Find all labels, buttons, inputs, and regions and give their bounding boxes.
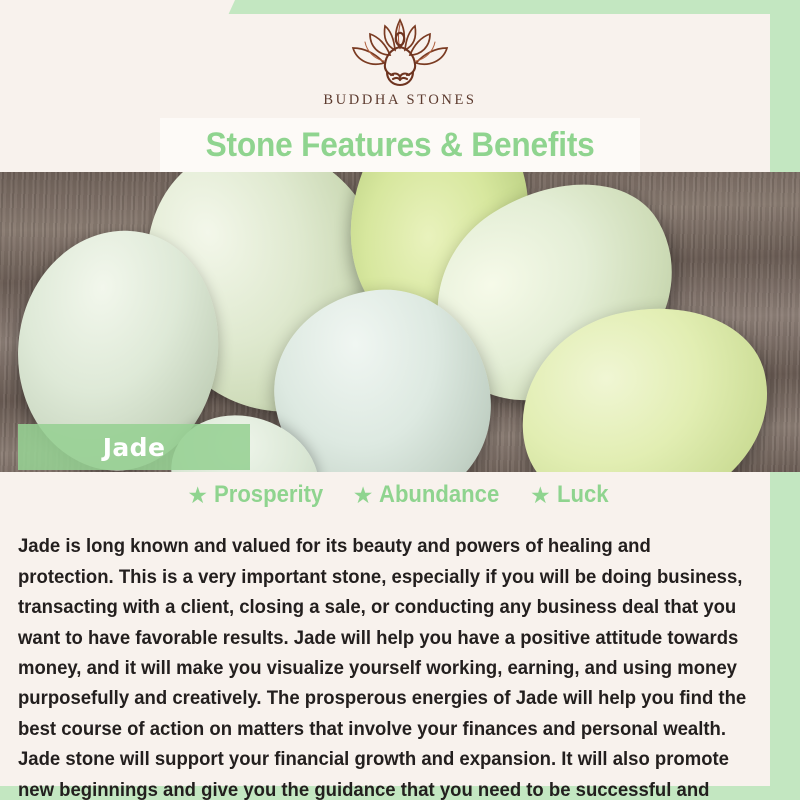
star-icon: ★ <box>353 484 374 507</box>
brand-logo: BUDDHA STONES <box>0 14 800 122</box>
page-title: Stone Features & Benefits <box>206 126 595 165</box>
star-icon: ★ <box>187 484 208 507</box>
benefit-item: ★ Prosperity <box>187 481 332 509</box>
stone-description: Jade is long known and valued for its be… <box>18 531 750 800</box>
star-icon: ★ <box>530 484 551 507</box>
benefits-row: ★ Prosperity ★ Abundance ★ Luck <box>0 478 800 512</box>
stone-name-label: Jade <box>103 433 166 462</box>
stone-info-card: BUDDHA STONES Jade Stone Features & Bene… <box>0 0 800 800</box>
page-title-band: Stone Features & Benefits <box>160 118 640 172</box>
benefit-item: ★ Luck <box>530 481 613 509</box>
benefit-label: Luck <box>557 481 609 509</box>
benefit-label: Prosperity <box>214 481 323 509</box>
brand-wordmark: BUDDHA STONES <box>323 92 476 109</box>
benefit-item: ★ Abundance <box>353 481 510 509</box>
benefit-label: Abundance <box>379 481 499 509</box>
lotus-meditation-icon <box>325 14 475 90</box>
stone-name-tag: Jade <box>18 424 250 470</box>
